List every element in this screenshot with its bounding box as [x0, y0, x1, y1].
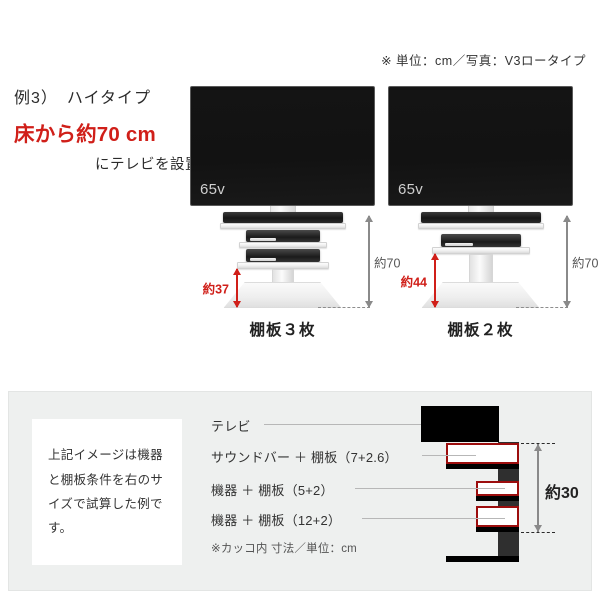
schematic-label-equipment-2: 機器 ＋ 棚板（12+2） — [211, 510, 341, 529]
soundbar-left — [223, 212, 343, 223]
schematic-leader-tv — [264, 424, 421, 425]
tv-size-label-right: 65v — [398, 181, 423, 198]
shelf-board-3-left — [237, 262, 329, 269]
schematic-equipment-1 — [446, 443, 519, 464]
schematic-dash-bottom — [521, 532, 555, 533]
shelf-board-1-right — [418, 223, 544, 229]
device-upper-left — [246, 230, 320, 242]
product-spec-illustration: ※ 単位：cm／写真：V3ロータイプ 例3） ハイタイプ 床から約70 cm に… — [0, 0, 600, 600]
caption-left: 棚板３枚 — [190, 318, 375, 340]
headline-subtext: にテレビを設置 — [14, 153, 204, 174]
schematic-leader-equipment-2 — [362, 518, 505, 519]
schematic-board-2 — [476, 496, 519, 501]
caption-right: 棚板２枚 — [388, 318, 573, 340]
stack-schematic: 約30 テレビ サウンドバー ＋ 棚板（7+2.6） 機器 ＋ 棚板（5+2） … — [9, 392, 592, 591]
television-left: 65v — [190, 86, 375, 206]
schematic-dimension-label: 約30 — [545, 479, 579, 503]
baseline-leader-right — [516, 307, 568, 308]
inner-dimension-label-right: 約44 — [401, 271, 427, 290]
stand-base-right — [422, 282, 540, 308]
schematic-board-1 — [446, 464, 519, 469]
inner-dimension-label-left: 約37 — [203, 279, 229, 298]
tv-size-label-left: 65v — [200, 181, 225, 198]
outer-dimension-label-right: 約70 — [572, 252, 598, 271]
unit-note: ※ 単位：cm／写真：V3ロータイプ — [381, 50, 586, 69]
device-right — [441, 234, 521, 247]
device-lower-left — [246, 249, 320, 262]
schematic-label-equipment-1: 機器 ＋ 棚板（5+2） — [211, 480, 334, 499]
schematic-base-plate — [446, 556, 519, 562]
shelf-board-2-left — [239, 242, 327, 248]
schematic-board-3 — [476, 527, 519, 532]
shelf-board-2-right — [432, 247, 530, 254]
headline-height-highlight: 床から約70 cm — [14, 117, 204, 147]
television-right: 65v — [388, 86, 573, 206]
schematic-label-tv: テレビ — [211, 416, 251, 435]
schematic-leader-soundbar — [422, 455, 476, 456]
schematic-leader-equipment-1 — [355, 488, 505, 489]
tv-stand-unit-left: 65v 約37 約70 — [190, 86, 375, 336]
tv-stand-unit-right: 65v 約44 約70 — [388, 86, 573, 336]
soundbar-right — [421, 212, 541, 223]
schematic-footnote: ※カッコ内 寸法／単位：cm — [211, 540, 357, 556]
shelf-board-1-left — [220, 223, 346, 229]
stand-base-left — [224, 282, 342, 308]
schematic-tv-block — [421, 406, 499, 442]
schematic-label-soundbar: サウンドバー ＋ 棚板（7+2.6） — [211, 447, 398, 466]
baseline-leader-left — [318, 307, 370, 308]
schematic-equipment-3 — [476, 506, 519, 527]
headline-example-label: 例3） ハイタイプ — [14, 84, 204, 108]
explanation-panel: 上記イメージは機器と棚板条件を右のサイズで試算した例です。 — [8, 391, 592, 591]
headline-block: 例3） ハイタイプ 床から約70 cm にテレビを設置 — [14, 84, 204, 174]
